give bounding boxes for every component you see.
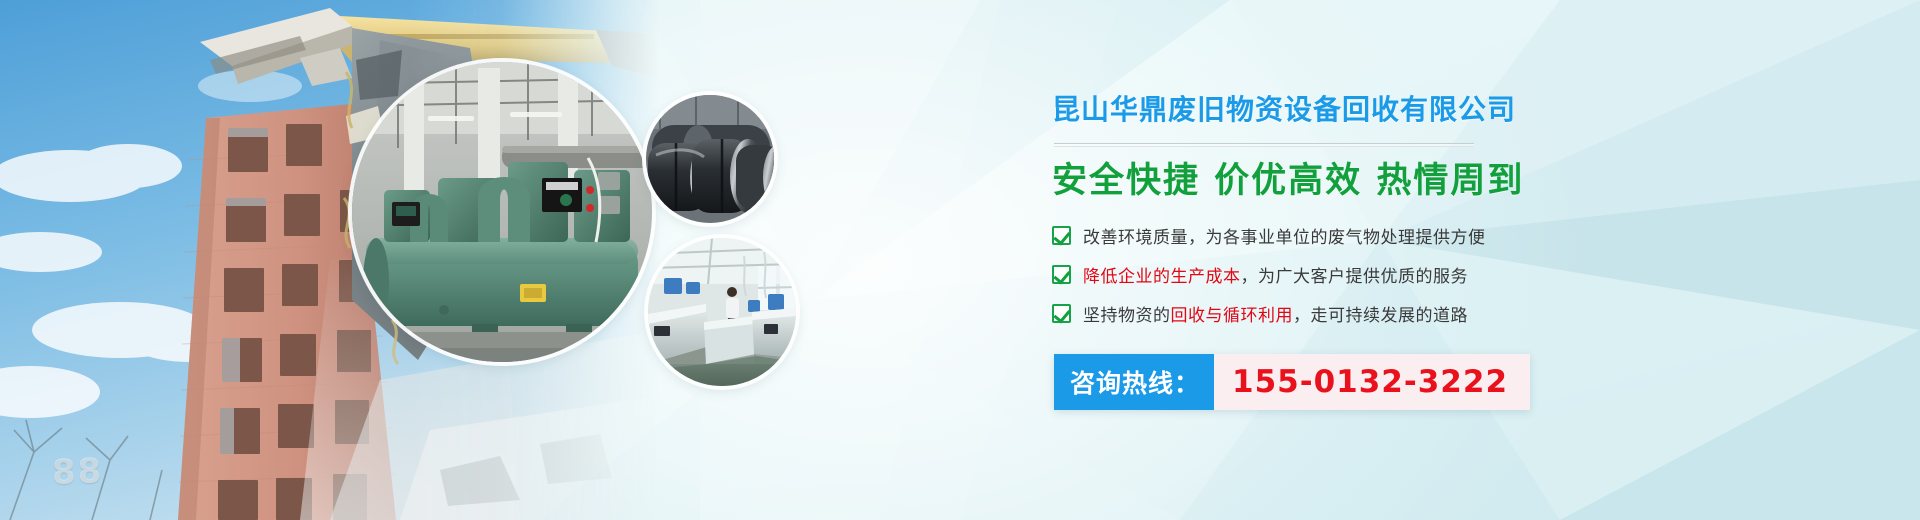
list-item: 改善环境质量，为各事业单位的废气物处理提供方便 — [1052, 223, 1692, 248]
bullet-lead: 坚持物资的 — [1083, 306, 1171, 326]
bullet-tail: ，走可持续发展的道路 — [1293, 306, 1468, 326]
check-icon — [1052, 226, 1071, 245]
list-item: 降低企业的生产成本，为广大客户提供优质的服务 — [1052, 262, 1692, 287]
chiller-photo — [352, 62, 652, 362]
slogan: 安全快捷 价优高效 热情周到 — [1052, 161, 1692, 201]
check-icon — [1052, 265, 1071, 284]
feature-list: 改善环境质量，为各事业单位的废气物处理提供方便 降低企业的生产成本，为广大客户提… — [1052, 223, 1692, 326]
hotline-number[interactable]: 155-0132-3222 — [1214, 354, 1530, 410]
hotline-label: 咨询热线： — [1054, 354, 1214, 410]
list-item: 坚持物资的回收与循环利用，走可持续发展的道路 — [1052, 301, 1692, 326]
steel-coil-photo — [646, 95, 774, 223]
check-icon — [1052, 304, 1071, 323]
workshop-photo — [648, 238, 796, 386]
bullet-highlight: 回收与循环利用 — [1171, 306, 1294, 326]
bullet-highlight: 降低企业的生产成本 — [1083, 267, 1241, 287]
bullet-lead: 改善环境质量，为各事业单位的废气物处理提供方便 — [1083, 228, 1486, 248]
promo-banner: 88 — [0, 0, 1920, 520]
list-item-label: 改善环境质量，为各事业单位的废气物处理提供方便 — [1083, 223, 1486, 248]
hotline-bar[interactable]: 咨询热线： 155-0132-3222 — [1054, 354, 1530, 410]
list-item-label: 降低企业的生产成本，为广大客户提供优质的服务 — [1083, 262, 1468, 287]
list-item-label: 坚持物资的回收与循环利用，走可持续发展的道路 — [1083, 301, 1468, 326]
divider — [1054, 143, 1474, 147]
text-content: 昆山华鼎废旧物资设备回收有限公司 安全快捷 价优高效 热情周到 改善环境质量，为… — [1052, 92, 1692, 410]
bullet-tail: ，为广大客户提供优质的服务 — [1241, 267, 1469, 287]
company-name: 昆山华鼎废旧物资设备回收有限公司 — [1052, 92, 1692, 127]
